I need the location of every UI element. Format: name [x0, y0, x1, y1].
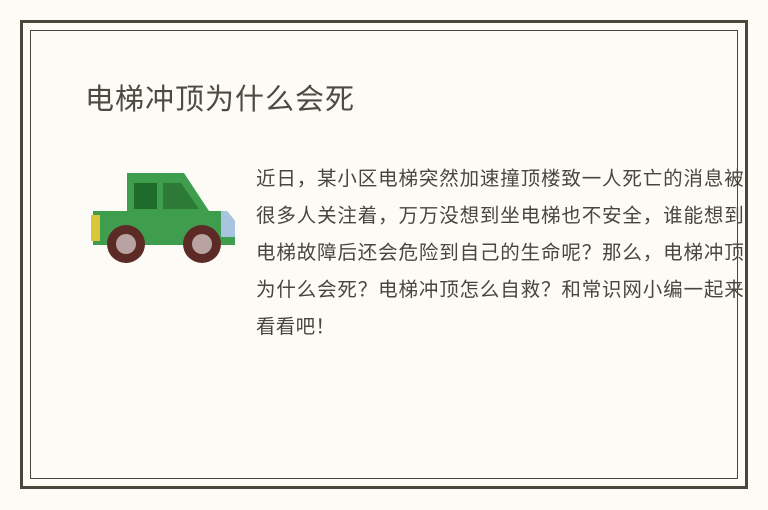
truck-front-hubcap	[192, 234, 212, 254]
truck-rear-hubcap	[116, 234, 136, 254]
truck-headlight	[220, 211, 235, 237]
article-inner-frame: 电梯冲顶为什么会死	[30, 30, 738, 479]
truck-rear-window	[134, 183, 157, 209]
page-title: 电梯冲顶为什么会死	[85, 80, 355, 120]
green-pickup-truck-icon	[89, 159, 249, 269]
article-body-text: 近日，某小区电梯突然加速撞顶楼致一人死亡的消息被很多人关注着，万万没想到坐电梯也…	[256, 161, 744, 346]
truck-taillight	[91, 215, 100, 241]
article-card: 电梯冲顶为什么会死	[20, 20, 748, 489]
truck-svg	[89, 159, 249, 269]
